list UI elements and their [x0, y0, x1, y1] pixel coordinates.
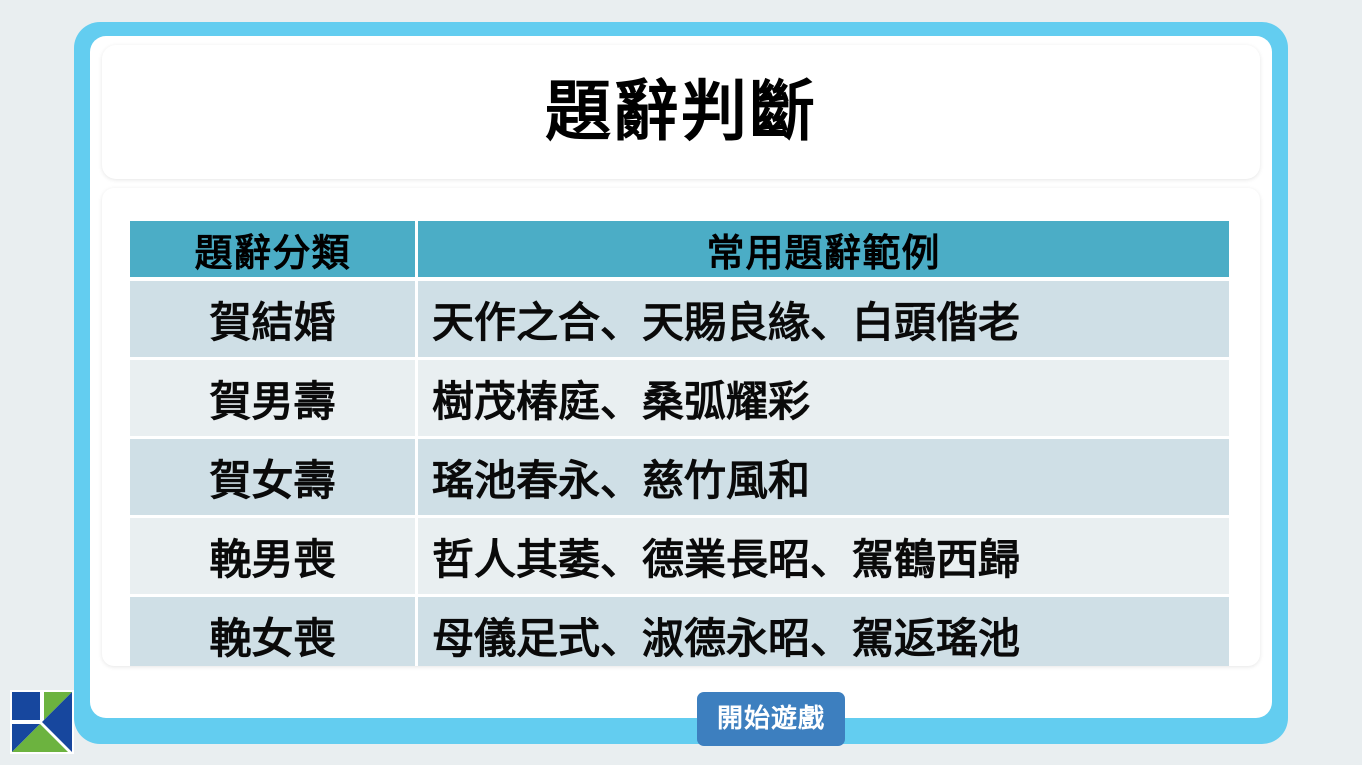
- cell-category: 賀女壽: [130, 439, 418, 518]
- table-panel: 題辭分類 常用題辭範例 賀結婚 天作之合、天賜良緣、白頭偕老 賀男壽 樹茂椿庭、…: [102, 188, 1260, 666]
- page-title: 題辭判斷: [545, 79, 817, 145]
- brand-logo: [10, 690, 74, 754]
- cell-examples: 母儀足式、淑德永昭、駕返瑤池: [418, 597, 1229, 666]
- table-row: 賀結婚 天作之合、天賜良緣、白頭偕老: [130, 281, 1229, 360]
- cell-examples: 瑤池春永、慈竹風和: [418, 439, 1229, 518]
- table-header-row: 題辭分類 常用題辭範例: [130, 221, 1229, 281]
- cell-examples: 樹茂椿庭、桑弧耀彩: [418, 360, 1229, 439]
- table-row: 賀女壽 瑤池春永、慈竹風和: [130, 439, 1229, 518]
- table-header: 題辭分類 常用題辭範例: [130, 221, 1229, 281]
- slide-frame: 題辭判斷 題辭分類 常用題辭範例 賀結婚 天作之合、天賜良: [74, 22, 1288, 744]
- cell-category: 賀男壽: [130, 360, 418, 439]
- column-header-examples: 常用題辭範例: [418, 221, 1229, 281]
- cell-category: 輓男喪: [130, 518, 418, 597]
- column-header-category: 題辭分類: [130, 221, 418, 281]
- table-row: 賀男壽 樹茂椿庭、桑弧耀彩: [130, 360, 1229, 439]
- cell-category: 賀結婚: [130, 281, 418, 360]
- terms-table: 題辭分類 常用題辭範例 賀結婚 天作之合、天賜良緣、白頭偕老 賀男壽 樹茂椿庭、…: [130, 221, 1229, 666]
- table-body: 賀結婚 天作之合、天賜良緣、白頭偕老 賀男壽 樹茂椿庭、桑弧耀彩 賀女壽 瑤池春…: [130, 281, 1229, 666]
- cell-category: 輓女喪: [130, 597, 418, 666]
- table-row: 輓女喪 母儀足式、淑德永昭、駕返瑤池: [130, 597, 1229, 666]
- title-panel: 題辭判斷: [102, 45, 1260, 179]
- cell-examples: 哲人其萎、德業長昭、駕鶴西歸: [418, 518, 1229, 597]
- start-game-button[interactable]: 開始遊戲: [697, 692, 845, 746]
- content-card: 題辭判斷 題辭分類 常用題辭範例 賀結婚 天作之合、天賜良: [90, 36, 1272, 718]
- table-row: 輓男喪 哲人其萎、德業長昭、駕鶴西歸: [130, 518, 1229, 597]
- k-logo-icon: [10, 690, 74, 754]
- cell-examples: 天作之合、天賜良緣、白頭偕老: [418, 281, 1229, 360]
